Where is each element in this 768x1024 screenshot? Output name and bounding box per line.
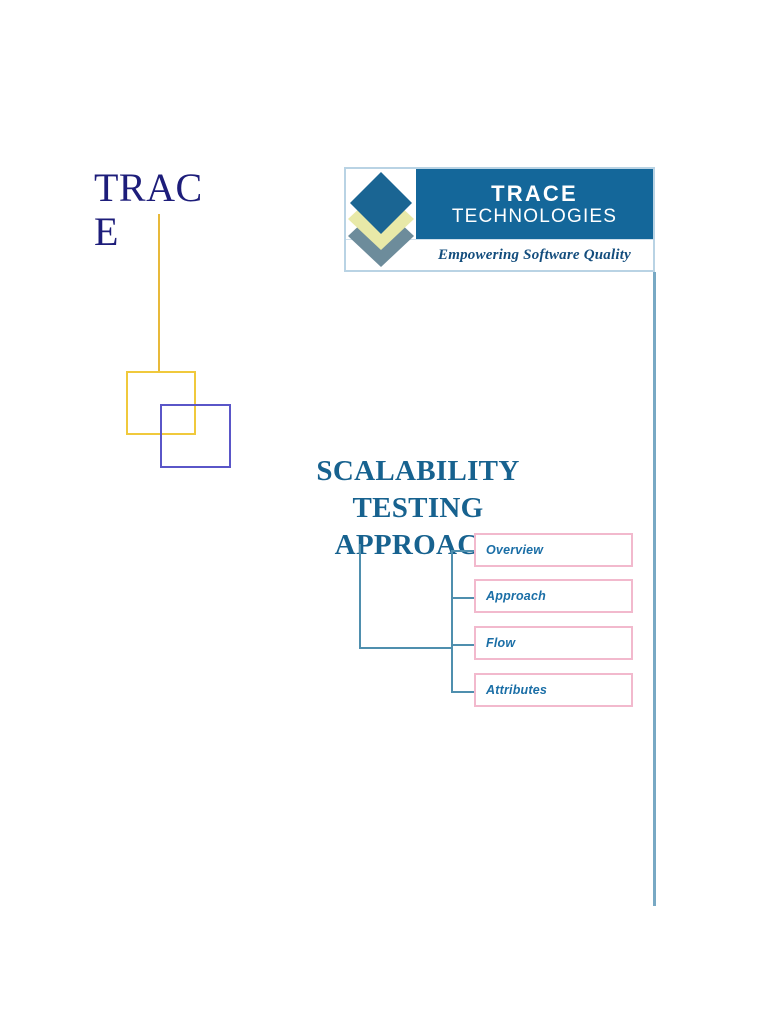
topic-label: Flow (486, 636, 515, 650)
topic-label: Approach (486, 589, 546, 603)
slide-canvas: TRACE TRACE TECHNOLOGIES (0, 0, 768, 1024)
topic-box-overview[interactable]: Overview (474, 533, 633, 567)
topic-label: Overview (486, 543, 543, 557)
topic-label: Attributes (486, 683, 547, 697)
topic-box-attributes[interactable]: Attributes (474, 673, 633, 707)
topic-tree-connector (0, 0, 768, 1024)
topic-box-approach[interactable]: Approach (474, 579, 633, 613)
topic-box-flow[interactable]: Flow (474, 626, 633, 660)
